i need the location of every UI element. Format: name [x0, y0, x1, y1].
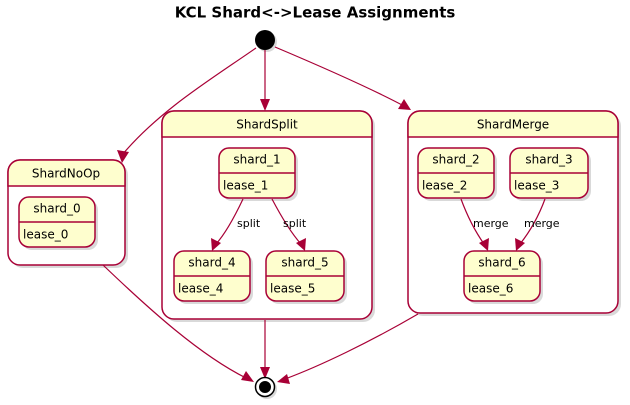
- shard_5-name: shard_5: [281, 256, 328, 270]
- shard_0-attr: lease_0: [23, 228, 68, 242]
- shard_1-attr: lease_1: [223, 179, 268, 193]
- transition-start-to-shardmerge: [275, 47, 411, 110]
- state-shard_6[interactable]: shard_6 lease_6: [464, 251, 543, 304]
- shard_3-attr: lease_3: [514, 179, 559, 193]
- start-node[interactable]: [255, 30, 277, 52]
- composite-state-shardnoop[interactable]: ShardNoOp shard_0 lease_0: [8, 160, 128, 268]
- transition-start-to-shardsplit: [260, 50, 270, 111]
- shard_2-name: shard_2: [432, 153, 479, 167]
- edge-label-split-right: split: [283, 217, 307, 230]
- shard_5-attr: lease_5: [270, 282, 315, 296]
- state-diagram-root: KCL Shard<->Lease Assignments ShardNoOp: [0, 0, 630, 405]
- arrowhead: [241, 371, 254, 382]
- shard_4-name: shard_4: [188, 256, 235, 270]
- shardmerge-title: ShardMerge: [477, 118, 549, 132]
- state-shard_2[interactable]: shard_2 lease_2: [418, 148, 497, 201]
- state-shard_4[interactable]: shard_4 lease_4: [174, 251, 253, 304]
- shardsplit-title: ShardSplit: [236, 118, 298, 132]
- transition-shardmerge-to-end: [277, 314, 418, 384]
- shard_3-name: shard_3: [525, 153, 572, 167]
- shard_4-attr: lease_4: [178, 282, 223, 296]
- state-shard_5[interactable]: shard_5 lease_5: [266, 251, 347, 304]
- start-node-circle: [255, 30, 275, 50]
- shard_0-name: shard_0: [33, 202, 80, 216]
- state-shard_0[interactable]: shard_0 lease_0: [19, 197, 98, 250]
- state-shard_3[interactable]: shard_3 lease_3: [510, 148, 591, 201]
- diagram-canvas: KCL Shard<->Lease Assignments ShardNoOp: [0, 0, 630, 405]
- state-shard_1[interactable]: shard_1 lease_1: [219, 148, 298, 201]
- arrowhead: [277, 374, 290, 384]
- composite-state-shardsplit[interactable]: ShardSplit shard_1 lease_1 split split: [162, 111, 375, 322]
- shard_2-attr: lease_2: [422, 179, 467, 193]
- end-node[interactable]: [256, 378, 278, 400]
- edge-label-split-left: split: [237, 217, 261, 230]
- transition-shardsplit-to-end: [260, 320, 270, 379]
- page-title: KCL Shard<->Lease Assignments: [175, 4, 456, 22]
- shardnoop-title: ShardNoOp: [32, 167, 100, 181]
- composite-state-shardmerge[interactable]: ShardMerge shard_2 lease_2 shard_3 lease…: [408, 111, 621, 316]
- shard_6-name: shard_6: [478, 256, 525, 270]
- end-node-inner-dot: [259, 381, 271, 393]
- edge-label-merge-right: merge: [524, 217, 560, 230]
- edge-label-merge-left: merge: [473, 217, 509, 230]
- shard_1-name: shard_1: [233, 153, 280, 167]
- shard_6-attr: lease_6: [468, 282, 513, 296]
- arrowhead: [260, 99, 270, 111]
